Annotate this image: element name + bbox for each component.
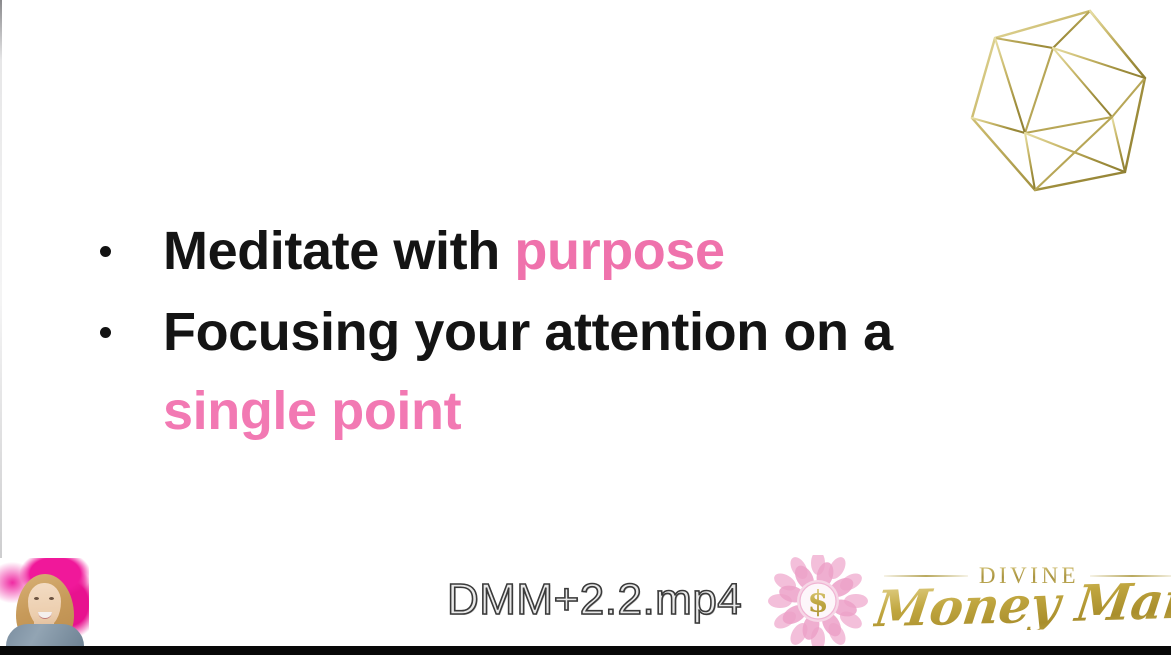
pink-lotus-mandala-dollar-icon: $ xyxy=(766,555,870,647)
video-slide-frame: Meditate with purpose Focusing your atte… xyxy=(0,0,1171,655)
list-item: Meditate with purpose xyxy=(100,212,1050,291)
video-filename-caption: DMM+2.2.mp4 xyxy=(447,575,742,625)
presenter-eye-left xyxy=(34,597,39,600)
bullet-dot-icon xyxy=(100,246,111,257)
frame-left-edge xyxy=(0,0,2,655)
presenter-torso xyxy=(6,624,84,646)
bullet-1-highlight: purpose xyxy=(514,221,724,281)
bullet-1-plain: Meditate with xyxy=(163,221,514,281)
bullet-2-plain: Focusing your attention on a xyxy=(163,302,893,362)
brand-lockup: $ DIVINE Money Manifesting xyxy=(766,553,1171,648)
svg-text:$: $ xyxy=(808,585,829,620)
bullet-dot-icon xyxy=(100,327,111,338)
brand-wordmark: Money Manifesting xyxy=(872,569,1171,634)
gold-wireframe-icosahedron-icon xyxy=(948,0,1163,200)
brand-wordmark-group: DIVINE Money Manifesting xyxy=(870,555,1171,647)
presenter-eye-right xyxy=(49,597,54,600)
bullet-list: Meditate with purpose Focusing your atte… xyxy=(100,212,1050,452)
list-item: Focusing your attention on a single poin… xyxy=(100,293,1050,451)
frame-bottom-bar xyxy=(0,646,1171,655)
bullet-2-highlight: single point xyxy=(163,381,461,441)
divider-line-left xyxy=(884,575,968,577)
presenter-webcam-thumbnail[interactable] xyxy=(0,558,89,646)
bullet-text-1: Meditate with purpose xyxy=(163,212,1050,291)
bullet-text-2: Focusing your attention on a single poin… xyxy=(163,293,1050,451)
